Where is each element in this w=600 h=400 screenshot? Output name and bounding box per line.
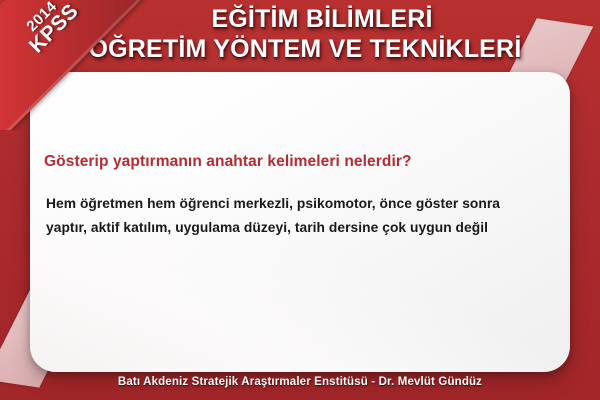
question-text: Gösterip yaptırmanın anahtar kelimeleri … (44, 152, 554, 172)
footer-credit: Batı Akdeniz Stratejik Araştırmaler Enst… (0, 376, 600, 388)
corner-ribbon: 2014 KPSS (0, 0, 150, 130)
answer-text: Hem öğretmen hem öğrenci merkezli, psiko… (46, 192, 538, 240)
corner-ribbon-banner (0, 0, 150, 130)
presentation-slide: 2014 KPSS EĞİTİM BİLİMLERİ ÖĞRETİM YÖNTE… (0, 0, 600, 400)
